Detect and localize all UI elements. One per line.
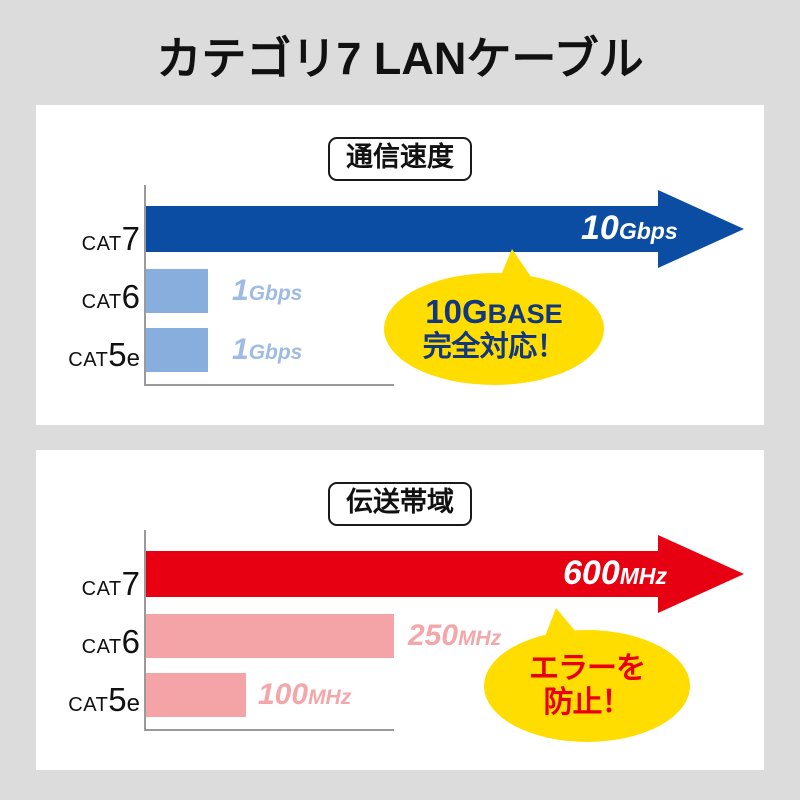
cat-suffix: e — [127, 345, 140, 372]
callout-prevent-error: エラーを 防止！ — [484, 630, 690, 742]
category-label-cat5e: CAT5e — [40, 683, 140, 716]
cat-word: CAT — [82, 291, 122, 313]
category-label-cat6: CAT6 — [40, 280, 140, 313]
callout-tail-text: BASE — [488, 299, 563, 329]
cat-word: CAT — [82, 578, 122, 600]
panel-communication-speed: 通信速度 CAT7 CAT6 CAT5e 10Gbps — [36, 105, 764, 425]
callout-line-1: エラーを — [529, 652, 645, 686]
callout-text: 10GBASE 完全対応！ — [384, 273, 604, 385]
bar-cat6-bandwidth — [146, 614, 394, 658]
chart-communication-speed: CAT7 CAT6 CAT5e 10Gbps 1Gbps 1Gbps — [36, 105, 764, 425]
callout-line-1: 10GBASE — [425, 294, 562, 331]
chart-baseline — [144, 729, 394, 731]
category-label-cat7: CAT7 — [40, 222, 140, 255]
value-number: 250 — [408, 619, 458, 652]
value-number: 1 — [232, 333, 249, 366]
value-label-cat5e-speed: 1Gbps — [232, 335, 302, 365]
category-label-cat6: CAT6 — [40, 625, 140, 658]
value-unit: MHz — [620, 563, 667, 589]
cat-word: CAT — [68, 694, 108, 716]
category-label-cat5e: CAT5e — [40, 338, 140, 371]
cat-number: 6 — [122, 278, 140, 315]
value-label-cat5e-bandwidth: 100MHz — [258, 680, 351, 710]
bar-cat5e-speed — [146, 328, 208, 372]
bar-cat6-speed — [146, 269, 208, 313]
value-number: 100 — [258, 678, 308, 711]
category-label-cat7: CAT7 — [40, 567, 140, 600]
cat-word: CAT — [82, 636, 122, 658]
cat-number: 6 — [122, 623, 140, 660]
bar-cat5e-bandwidth — [146, 673, 246, 717]
callout-text: エラーを 防止！ — [484, 630, 690, 742]
value-number: 600 — [563, 554, 620, 592]
cat-number: 7 — [122, 220, 140, 257]
callout-lead: 10G — [425, 293, 487, 330]
value-number: 10 — [581, 209, 619, 247]
chart-transmission-bandwidth: CAT7 CAT6 CAT5e 600MHz 250MHz 100MHz — [36, 450, 764, 770]
callout-line-2: 完全対応！ — [423, 331, 566, 363]
cat-word: CAT — [68, 349, 108, 371]
cat-number: 5 — [108, 336, 126, 373]
value-unit: MHz — [308, 686, 351, 709]
cat-number: 7 — [122, 565, 140, 602]
value-unit: Gbps — [249, 282, 303, 305]
callout-line-2: 防止！ — [544, 686, 631, 720]
value-label-cat7-speed: 10Gbps — [581, 211, 678, 245]
value-unit: Gbps — [249, 341, 303, 364]
value-unit: Gbps — [619, 218, 678, 244]
value-number: 1 — [232, 274, 249, 307]
cat-word: CAT — [82, 233, 122, 255]
category-labels-speed: CAT7 CAT6 CAT5e — [36, 105, 140, 425]
category-labels-bandwidth: CAT7 CAT6 CAT5e — [36, 450, 140, 770]
value-label-cat6-speed: 1Gbps — [232, 276, 302, 306]
cat-number: 5 — [108, 681, 126, 718]
cat-suffix: e — [127, 690, 140, 717]
chart-baseline — [144, 384, 394, 386]
value-label-cat7-bandwidth: 600MHz — [563, 556, 667, 590]
callout-10gbase: 10GBASE 完全対応！ — [384, 273, 604, 385]
panel-transmission-bandwidth: 伝送帯域 CAT7 CAT6 CAT5e 600MHz — [36, 450, 764, 770]
page-title: カテゴリ7 LANケーブル — [0, 22, 800, 87]
